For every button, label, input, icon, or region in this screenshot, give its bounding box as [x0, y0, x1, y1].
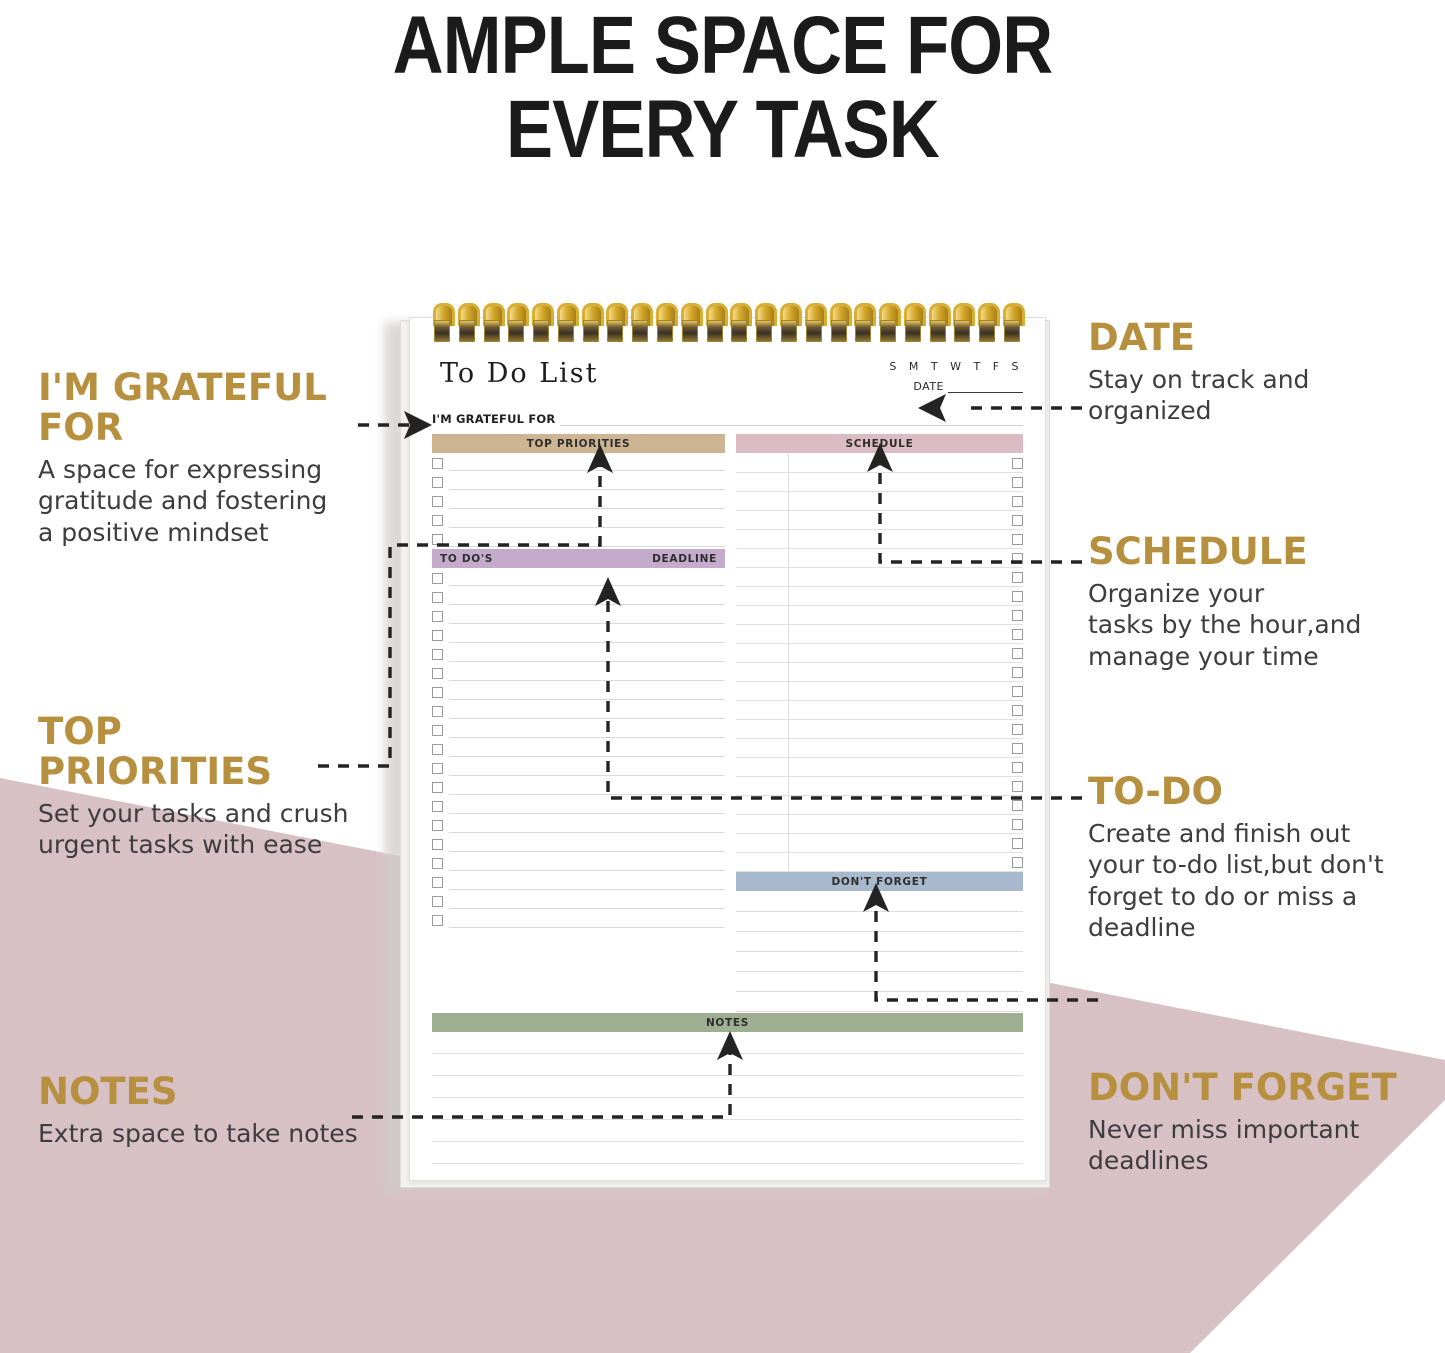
- grateful-write-line[interactable]: [560, 415, 1023, 426]
- schedule-entry-cell[interactable]: [789, 853, 1006, 872]
- spiral-coil: [581, 303, 599, 347]
- schedule-time-cell[interactable]: [736, 777, 789, 796]
- schedule-entry-cell[interactable]: [789, 758, 1006, 777]
- schedule-time-cell[interactable]: [736, 663, 789, 682]
- spiral-coil: [705, 303, 723, 347]
- write-line[interactable]: [449, 667, 725, 681]
- schedule-entry-cell[interactable]: [789, 492, 1006, 511]
- checkbox[interactable]: [432, 573, 443, 584]
- write-line[interactable]: [449, 572, 725, 586]
- schedule-entry-cell[interactable]: [789, 815, 1006, 834]
- schedule-entry-cell[interactable]: [789, 454, 1006, 473]
- notes-line[interactable]: [432, 1032, 1023, 1054]
- coil-clip: [484, 320, 500, 342]
- notes-line[interactable]: [432, 1098, 1023, 1120]
- checkbox[interactable]: [1012, 458, 1023, 469]
- schedule-checkbox-cell[interactable]: [1006, 625, 1023, 644]
- schedule-entry-cell[interactable]: [789, 530, 1006, 549]
- coil-clip: [1004, 320, 1020, 342]
- schedule-checkbox-cell[interactable]: [1006, 758, 1023, 777]
- spiral-coil: [680, 303, 698, 347]
- schedule-row[interactable]: [736, 587, 1023, 606]
- schedule-row[interactable]: [736, 606, 1023, 625]
- coil-clip: [533, 320, 549, 342]
- annotation-notes-body: Extra space to take notes: [38, 1118, 418, 1150]
- schedule-time-cell[interactable]: [736, 454, 789, 473]
- checklist-row[interactable]: [432, 569, 725, 588]
- spiral-coil: [729, 303, 747, 347]
- write-line[interactable]: [449, 876, 725, 890]
- coil-clip: [880, 320, 896, 342]
- write-line[interactable]: [449, 857, 725, 871]
- checkbox[interactable]: [1012, 515, 1023, 526]
- notes-line[interactable]: [432, 1120, 1023, 1142]
- schedule-row[interactable]: [736, 853, 1023, 872]
- checklist-row[interactable]: [432, 473, 725, 492]
- spiral-coil: [779, 303, 797, 347]
- checkbox[interactable]: [1012, 667, 1023, 678]
- page-title: AMPLE SPACE FOR EVERY TASK: [101, 4, 1344, 171]
- notepad-page: To Do List S M T W T F S DATE I'M GRATEF…: [410, 318, 1045, 1180]
- spiral-coil: [655, 303, 673, 347]
- schedule-row[interactable]: [736, 492, 1023, 511]
- checkbox[interactable]: [1012, 629, 1023, 640]
- checkbox[interactable]: [432, 477, 443, 488]
- schedule-entry-cell[interactable]: [789, 663, 1006, 682]
- schedule-checkbox-cell[interactable]: [1006, 739, 1023, 758]
- write-line[interactable]: [449, 629, 725, 643]
- coil-clip: [682, 320, 698, 342]
- notes-section: NOTES: [432, 1013, 1023, 1164]
- section-header-todos: TO DO'S DEADLINE: [432, 549, 725, 568]
- write-line[interactable]: [449, 648, 725, 662]
- spiral-coil: [952, 303, 970, 347]
- checklist-row[interactable]: [432, 645, 725, 664]
- spiral-coil: [804, 303, 822, 347]
- spiral-binding: [432, 303, 1020, 349]
- coil-clip: [806, 320, 822, 342]
- schedule-entry-cell[interactable]: [789, 511, 1006, 530]
- write-line[interactable]: [449, 476, 725, 490]
- annotation-schedule-body: Organize your tasks by the hour,and mana…: [1088, 578, 1418, 673]
- dont-forget-label: DON'T FORGET: [831, 876, 927, 888]
- schedule-label: SCHEDULE: [846, 438, 914, 450]
- annotation-date: DATE Stay on track and organized: [1088, 318, 1388, 427]
- write-line[interactable]: [449, 705, 725, 719]
- notes-line[interactable]: [432, 1054, 1023, 1076]
- right-column: SCHEDULE DON'T FORGET: [736, 434, 1023, 1012]
- top-priorities-label: TOP PRIORITIES: [527, 438, 631, 450]
- coil-clip: [508, 320, 524, 342]
- coil-clip: [657, 320, 673, 342]
- schedule-row[interactable]: [736, 663, 1023, 682]
- spiral-coil: [630, 303, 648, 347]
- checklist-row[interactable]: [432, 511, 725, 530]
- checkbox[interactable]: [1012, 496, 1023, 507]
- coil-clip: [459, 320, 475, 342]
- checklist-row[interactable]: [432, 740, 725, 759]
- coil-clip: [731, 320, 747, 342]
- schedule-checkbox-cell[interactable]: [1006, 549, 1023, 568]
- checklist-row[interactable]: [432, 835, 725, 854]
- checkbox[interactable]: [1012, 648, 1023, 659]
- checklist-row[interactable]: [432, 664, 725, 683]
- checklist-row[interactable]: [432, 854, 725, 873]
- top-priorities-rows: [432, 454, 725, 549]
- checkbox[interactable]: [1012, 800, 1023, 811]
- schedule-entry-cell[interactable]: [789, 549, 1006, 568]
- checklist-row[interactable]: [432, 873, 725, 892]
- schedule-checkbox-cell[interactable]: [1006, 473, 1023, 492]
- schedule-row[interactable]: [736, 682, 1023, 701]
- schedule-row[interactable]: [736, 720, 1023, 739]
- schedule-entry-cell[interactable]: [789, 682, 1006, 701]
- schedule-entry-cell[interactable]: [789, 777, 1006, 796]
- schedule-entry-cell[interactable]: [789, 834, 1006, 853]
- write-line-row[interactable]: [736, 892, 1023, 912]
- schedule-checkbox-cell[interactable]: [1006, 663, 1023, 682]
- checklist-row[interactable]: [432, 721, 725, 740]
- write-line-row[interactable]: [736, 952, 1023, 972]
- write-line-row[interactable]: [736, 912, 1023, 932]
- schedule-row[interactable]: [736, 796, 1023, 815]
- schedule-row[interactable]: [736, 530, 1023, 549]
- checklist-row[interactable]: [432, 702, 725, 721]
- annotation-dont-forget-body: Never miss important deadlines: [1088, 1114, 1428, 1177]
- coil-clip: [781, 320, 797, 342]
- checkbox[interactable]: [432, 496, 443, 507]
- checkbox[interactable]: [432, 706, 443, 717]
- schedule-entry-cell[interactable]: [789, 606, 1006, 625]
- checkbox[interactable]: [1012, 762, 1023, 773]
- spiral-coil: [977, 303, 995, 347]
- spiral-coil: [1002, 303, 1020, 347]
- spiral-coil: [928, 303, 946, 347]
- write-line[interactable]: [449, 686, 725, 700]
- write-line[interactable]: [449, 591, 725, 605]
- annotation-notes-title: NOTES: [38, 1072, 418, 1112]
- todos-label: TO DO'S: [440, 553, 493, 565]
- schedule-entry-cell[interactable]: [789, 625, 1006, 644]
- annotation-top-priorities-title: TOP PRIORITIES: [38, 712, 388, 792]
- schedule-entry-cell[interactable]: [789, 473, 1006, 492]
- annotation-todo-title: TO-DO: [1088, 772, 1408, 812]
- schedule-time-cell[interactable]: [736, 682, 789, 701]
- checklist-row[interactable]: [432, 683, 725, 702]
- date-field[interactable]: DATE: [913, 380, 1023, 393]
- schedule-time-cell[interactable]: [736, 625, 789, 644]
- schedule-row[interactable]: [736, 739, 1023, 758]
- todos-rows: [432, 569, 725, 930]
- write-line-row[interactable]: [736, 932, 1023, 952]
- write-line[interactable]: [449, 724, 725, 738]
- notepad: To Do List S M T W T F S DATE I'M GRATEF…: [409, 317, 1046, 1181]
- schedule-row[interactable]: [736, 777, 1023, 796]
- checkbox[interactable]: [432, 839, 443, 850]
- schedule-checkbox-cell[interactable]: [1006, 720, 1023, 739]
- annotation-date-body: Stay on track and organized: [1088, 364, 1388, 427]
- spiral-coil: [457, 303, 475, 347]
- schedule-row[interactable]: [736, 454, 1023, 473]
- schedule-checkbox-cell[interactable]: [1006, 587, 1023, 606]
- section-header-schedule: SCHEDULE: [736, 434, 1023, 453]
- checklist-row[interactable]: [432, 626, 725, 645]
- checklist-row[interactable]: [432, 607, 725, 626]
- grateful-label: I'M GRATEFUL FOR: [432, 412, 555, 426]
- schedule-time-cell[interactable]: [736, 606, 789, 625]
- schedule-row[interactable]: [736, 549, 1023, 568]
- schedule-row[interactable]: [736, 568, 1023, 587]
- coil-clip: [558, 320, 574, 342]
- checklist-row[interactable]: [432, 816, 725, 835]
- checkbox[interactable]: [1012, 477, 1023, 488]
- checkbox[interactable]: [1012, 553, 1023, 564]
- checkbox[interactable]: [1012, 781, 1023, 792]
- schedule-row[interactable]: [736, 758, 1023, 777]
- schedule-time-cell[interactable]: [736, 530, 789, 549]
- checklist-row[interactable]: [432, 892, 725, 911]
- schedule-time-cell[interactable]: [736, 720, 789, 739]
- checklist-row[interactable]: [432, 797, 725, 816]
- schedule-time-cell[interactable]: [736, 796, 789, 815]
- schedule-checkbox-cell[interactable]: [1006, 777, 1023, 796]
- schedule-checkbox-cell[interactable]: [1006, 492, 1023, 511]
- annotation-dont-forget: DON'T FORGET Never miss important deadli…: [1088, 1068, 1428, 1177]
- checklist-row[interactable]: [432, 588, 725, 607]
- checkbox[interactable]: [1012, 743, 1023, 754]
- write-line[interactable]: [449, 495, 725, 509]
- checkbox[interactable]: [432, 744, 443, 755]
- checkbox[interactable]: [432, 649, 443, 660]
- schedule-time-cell[interactable]: [736, 834, 789, 853]
- schedule-entry-cell[interactable]: [789, 796, 1006, 815]
- dont-forget-rows: [736, 892, 1023, 1012]
- schedule-time-cell[interactable]: [736, 739, 789, 758]
- coil-clip: [756, 320, 772, 342]
- schedule-entry-cell[interactable]: [789, 568, 1006, 587]
- annotation-schedule: SCHEDULE Organize your tasks by the hour…: [1088, 532, 1418, 672]
- schedule-rows: [736, 454, 1023, 872]
- write-line[interactable]: [449, 743, 725, 757]
- spiral-coil: [506, 303, 524, 347]
- schedule-row[interactable]: [736, 473, 1023, 492]
- write-line[interactable]: [449, 610, 725, 624]
- schedule-checkbox-cell[interactable]: [1006, 815, 1023, 834]
- annotation-schedule-title: SCHEDULE: [1088, 532, 1418, 572]
- schedule-checkbox-cell[interactable]: [1006, 853, 1023, 872]
- checkbox[interactable]: [1012, 591, 1023, 602]
- headline-line-2: EVERY TASK: [101, 88, 1344, 172]
- coil-clip: [707, 320, 723, 342]
- checkbox[interactable]: [432, 534, 443, 545]
- notes-line[interactable]: [432, 1142, 1023, 1164]
- spiral-coil: [605, 303, 623, 347]
- checkbox[interactable]: [432, 458, 443, 469]
- schedule-entry-cell[interactable]: [789, 644, 1006, 663]
- coil-clip: [607, 320, 623, 342]
- spiral-coil: [556, 303, 574, 347]
- day-of-week-letters: S M T W T F S: [889, 360, 1023, 373]
- checkbox[interactable]: [432, 915, 443, 926]
- schedule-time-cell[interactable]: [736, 492, 789, 511]
- write-line[interactable]: [449, 457, 725, 471]
- schedule-time-cell[interactable]: [736, 701, 789, 720]
- spiral-coil: [432, 303, 450, 347]
- schedule-entry-cell[interactable]: [789, 739, 1006, 758]
- checkbox[interactable]: [432, 801, 443, 812]
- spiral-coil: [853, 303, 871, 347]
- spiral-coil: [903, 303, 921, 347]
- schedule-time-cell[interactable]: [736, 549, 789, 568]
- write-line[interactable]: [449, 514, 725, 528]
- write-line[interactable]: [449, 762, 725, 776]
- checkbox[interactable]: [1012, 857, 1023, 868]
- annotation-date-title: DATE: [1088, 318, 1388, 358]
- coil-clip: [583, 320, 599, 342]
- schedule-time-cell[interactable]: [736, 815, 789, 834]
- checkbox[interactable]: [432, 668, 443, 679]
- checkbox[interactable]: [1012, 610, 1023, 621]
- schedule-time-cell[interactable]: [736, 644, 789, 663]
- checkbox[interactable]: [1012, 534, 1023, 545]
- annotation-top-priorities-body: Set your tasks and crush urgent tasks wi…: [38, 798, 388, 861]
- annotation-dont-forget-title: DON'T FORGET: [1088, 1068, 1428, 1108]
- checklist-row[interactable]: [432, 530, 725, 549]
- write-line[interactable]: [449, 914, 725, 928]
- write-line[interactable]: [449, 781, 725, 795]
- coil-clip: [632, 320, 648, 342]
- checkbox[interactable]: [1012, 724, 1023, 735]
- schedule-row[interactable]: [736, 625, 1023, 644]
- write-line[interactable]: [449, 819, 725, 833]
- schedule-checkbox-cell[interactable]: [1006, 644, 1023, 663]
- checkbox[interactable]: [432, 820, 443, 831]
- checklist-row[interactable]: [432, 454, 725, 473]
- write-line[interactable]: [449, 533, 725, 547]
- checklist-row[interactable]: [432, 759, 725, 778]
- deadline-label: DEADLINE: [652, 553, 717, 565]
- section-header-notes: NOTES: [432, 1013, 1023, 1032]
- annotation-top-priorities: TOP PRIORITIES Set your tasks and crush …: [38, 712, 388, 861]
- schedule-entry-cell[interactable]: [789, 587, 1006, 606]
- coil-clip: [434, 320, 450, 342]
- annotation-grateful: I'M GRATEFUL FOR A space for expressing …: [38, 368, 368, 548]
- schedule-row[interactable]: [736, 815, 1023, 834]
- schedule-checkbox-cell[interactable]: [1006, 530, 1023, 549]
- write-line[interactable]: [449, 895, 725, 909]
- notepad-columns: TOP PRIORITIES TO DO'S DEADLINE SCHEDULE…: [432, 434, 1023, 1012]
- schedule-checkbox-cell[interactable]: [1006, 682, 1023, 701]
- annotation-todo: TO-DO Create and finish out your to-do l…: [1088, 772, 1408, 944]
- date-write-line[interactable]: [948, 381, 1023, 393]
- schedule-checkbox-cell[interactable]: [1006, 454, 1023, 473]
- coil-clip: [855, 320, 871, 342]
- coil-clip: [930, 320, 946, 342]
- notes-line[interactable]: [432, 1076, 1023, 1098]
- checklist-row[interactable]: [432, 778, 725, 797]
- section-header-top-priorities: TOP PRIORITIES: [432, 434, 725, 453]
- checkbox[interactable]: [1012, 705, 1023, 716]
- schedule-entry-cell[interactable]: [789, 701, 1006, 720]
- schedule-checkbox-cell[interactable]: [1006, 701, 1023, 720]
- schedule-time-cell[interactable]: [736, 511, 789, 530]
- spiral-coil: [829, 303, 847, 347]
- schedule-checkbox-cell[interactable]: [1006, 606, 1023, 625]
- coil-clip: [954, 320, 970, 342]
- notes-rows: [432, 1032, 1023, 1164]
- schedule-entry-cell[interactable]: [789, 720, 1006, 739]
- headline-line-1: AMPLE SPACE FOR: [393, 0, 1053, 91]
- write-line[interactable]: [449, 838, 725, 852]
- schedule-checkbox-cell[interactable]: [1006, 796, 1023, 815]
- schedule-checkbox-cell[interactable]: [1006, 834, 1023, 853]
- schedule-row[interactable]: [736, 644, 1023, 663]
- checkbox[interactable]: [432, 515, 443, 526]
- schedule-time-cell[interactable]: [736, 758, 789, 777]
- notepad-title: To Do List: [440, 358, 599, 389]
- annotation-todo-body: Create and finish out your to-do list,bu…: [1088, 818, 1408, 944]
- checkbox[interactable]: [432, 687, 443, 698]
- checkbox[interactable]: [432, 858, 443, 869]
- schedule-checkbox-cell[interactable]: [1006, 568, 1023, 587]
- annotation-grateful-title: I'M GRATEFUL FOR: [38, 368, 368, 448]
- spiral-coil: [878, 303, 896, 347]
- checkbox[interactable]: [432, 763, 443, 774]
- schedule-checkbox-cell[interactable]: [1006, 511, 1023, 530]
- write-line-row[interactable]: [736, 972, 1023, 992]
- section-header-dont-forget: DON'T FORGET: [736, 872, 1023, 891]
- annotation-grateful-body: A space for expressing gratitude and fos…: [38, 454, 368, 549]
- schedule-time-cell[interactable]: [736, 587, 789, 606]
- notes-label: NOTES: [706, 1017, 749, 1029]
- coil-clip: [905, 320, 921, 342]
- checkbox[interactable]: [1012, 686, 1023, 697]
- schedule-time-cell[interactable]: [736, 568, 789, 587]
- spiral-coil: [482, 303, 500, 347]
- checkbox[interactable]: [1012, 819, 1023, 830]
- left-column: TOP PRIORITIES TO DO'S DEADLINE: [432, 434, 725, 1012]
- checkbox[interactable]: [432, 877, 443, 888]
- checkbox[interactable]: [432, 630, 443, 641]
- spiral-coil: [531, 303, 549, 347]
- schedule-time-cell[interactable]: [736, 853, 789, 872]
- checkbox[interactable]: [1012, 838, 1023, 849]
- checkbox[interactable]: [432, 725, 443, 736]
- schedule-row[interactable]: [736, 834, 1023, 853]
- schedule-row[interactable]: [736, 701, 1023, 720]
- checklist-row[interactable]: [432, 911, 725, 930]
- checkbox[interactable]: [1012, 572, 1023, 583]
- write-line-row[interactable]: [736, 992, 1023, 1012]
- grateful-field[interactable]: I'M GRATEFUL FOR: [432, 412, 1023, 426]
- checkbox[interactable]: [432, 896, 443, 907]
- spiral-coil: [754, 303, 772, 347]
- coil-clip: [979, 320, 995, 342]
- write-line[interactable]: [449, 800, 725, 814]
- checkbox[interactable]: [432, 611, 443, 622]
- coil-clip: [831, 320, 847, 342]
- schedule-time-cell[interactable]: [736, 473, 789, 492]
- date-label: DATE: [913, 380, 944, 393]
- checkbox[interactable]: [432, 592, 443, 603]
- checkbox[interactable]: [432, 782, 443, 793]
- checklist-row[interactable]: [432, 492, 725, 511]
- schedule-row[interactable]: [736, 511, 1023, 530]
- annotation-notes: NOTES Extra space to take notes: [38, 1072, 418, 1149]
